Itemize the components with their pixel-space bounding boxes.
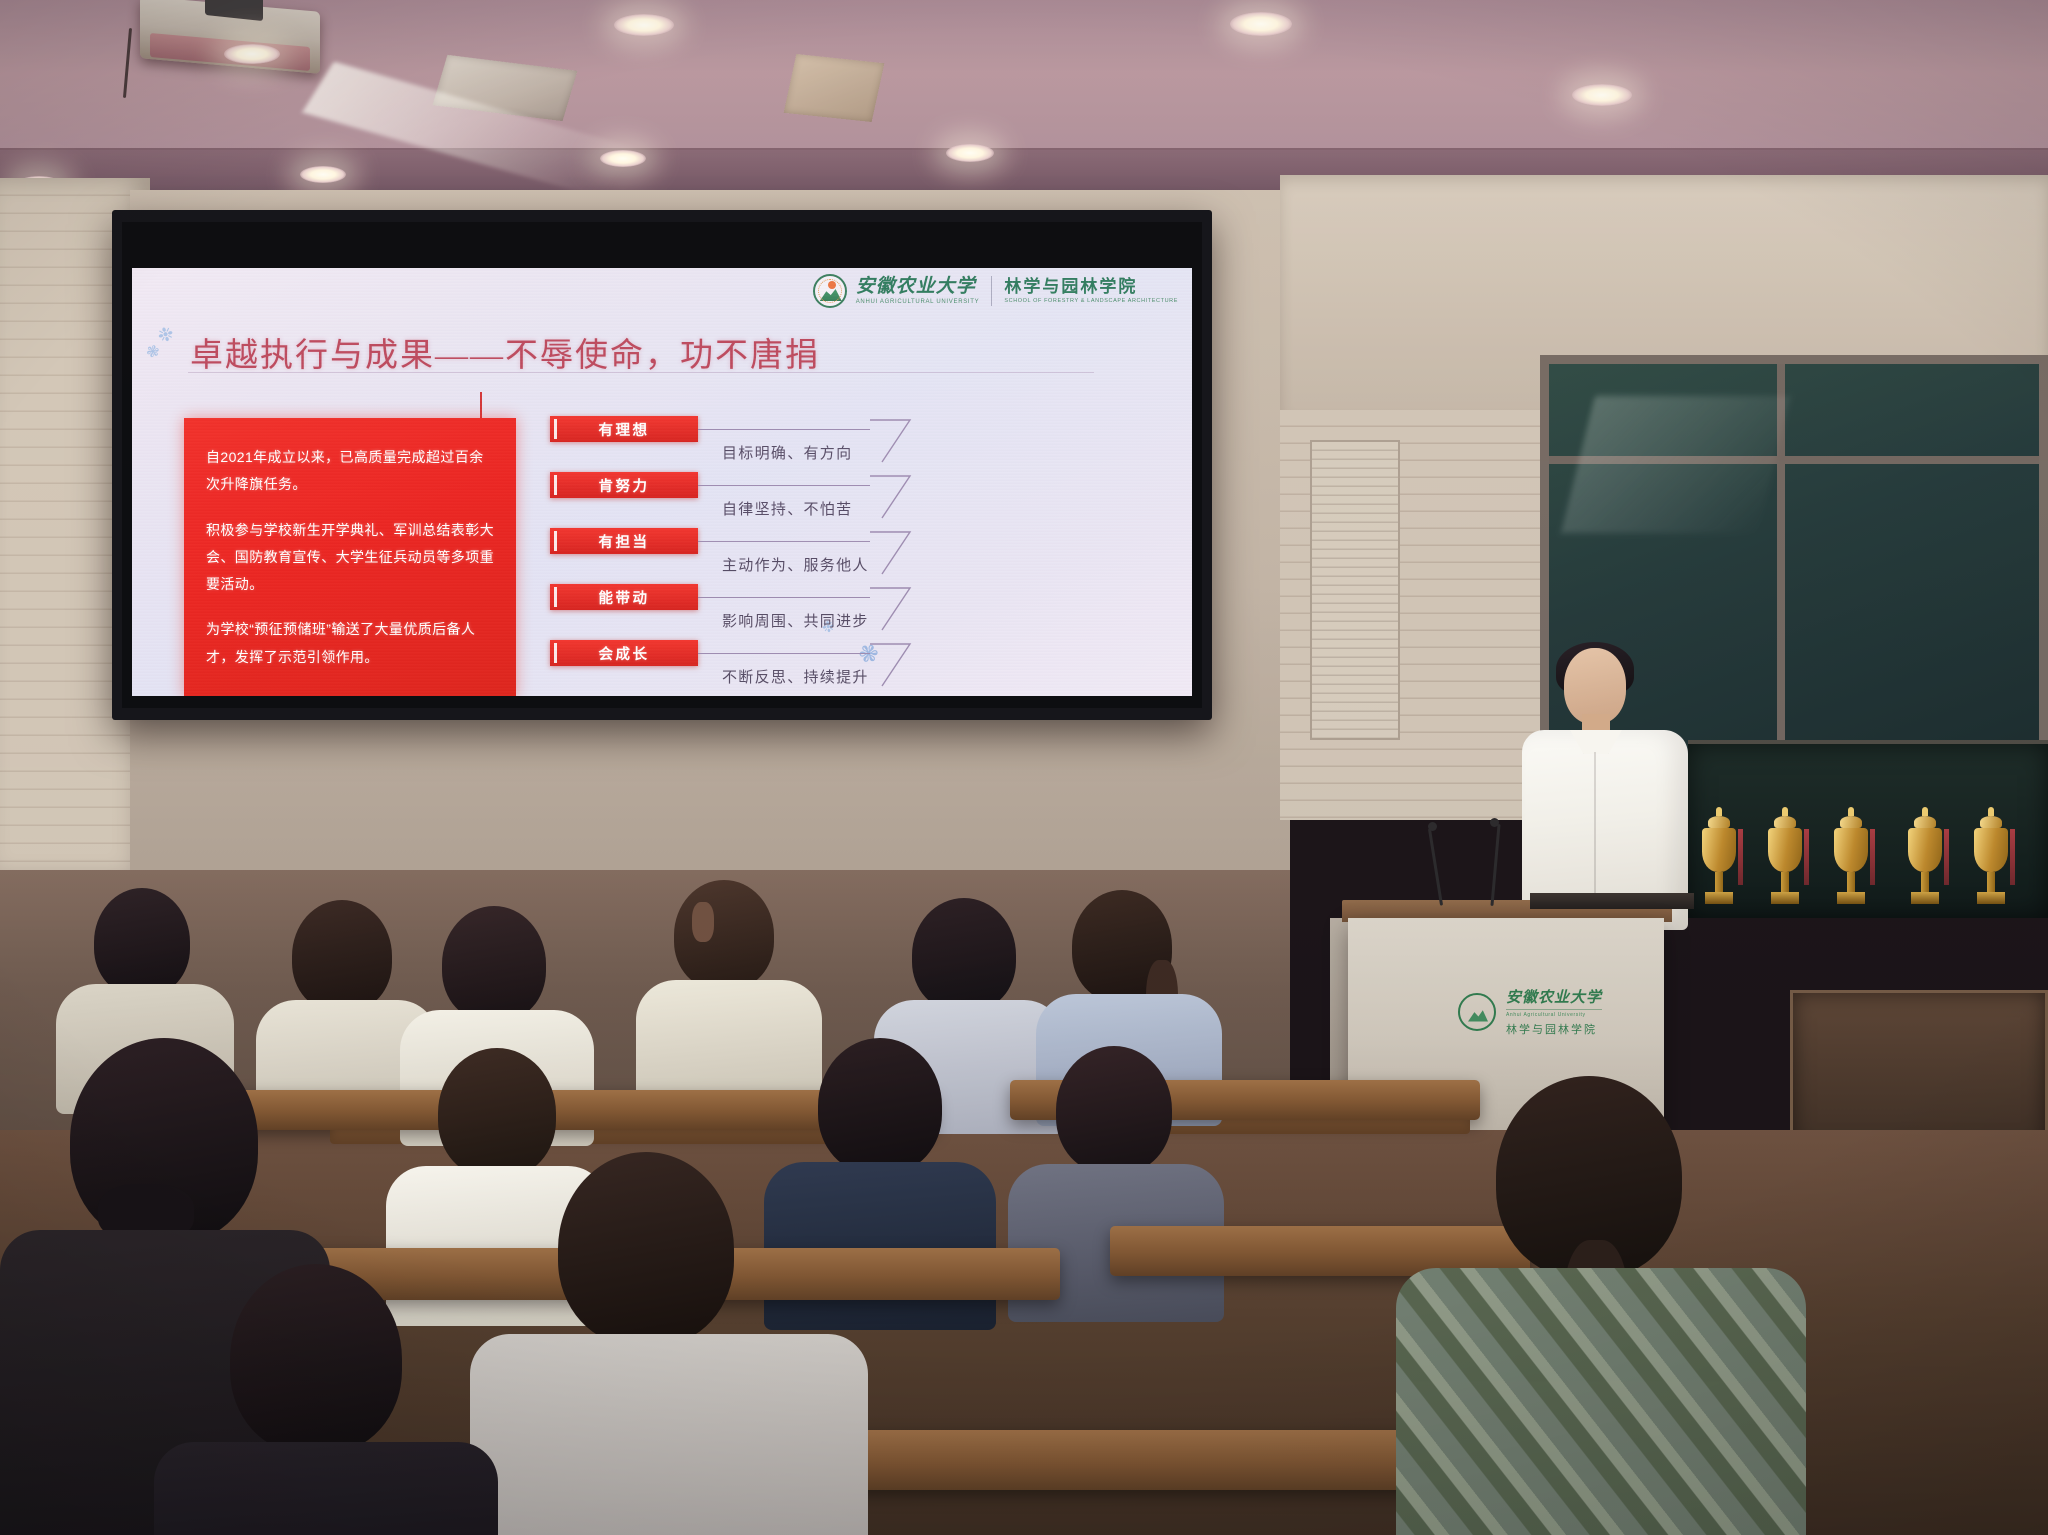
item-chip: 会成长: [550, 640, 698, 666]
audience-head: [442, 906, 546, 1022]
trophy-icon: [1702, 807, 1736, 904]
list-item: 有担当 主动作为、服务他人: [550, 528, 1030, 584]
ceiling-downlight: [614, 14, 674, 36]
item-chip: 肯努力: [550, 472, 698, 498]
podium-school-name-cn: 林学与园林学院: [1506, 1021, 1602, 1037]
logo-divider: [991, 276, 992, 306]
item-connector-line: [698, 597, 870, 598]
ceiling-downlight: [946, 144, 994, 162]
podium-university-name-cn: 安徽农业大学: [1506, 986, 1602, 1007]
podium-desk-surface: [1530, 893, 1694, 909]
item-connector-line: [698, 429, 870, 430]
slide-header-logo: 安徽农业大学 ANHUI AGRICULTURAL UNIVERSITY 林学与…: [813, 274, 1178, 308]
side-cabinet: [1790, 990, 2048, 1150]
audience-head: [292, 900, 392, 1012]
audience-head: [912, 898, 1016, 1012]
item-chip: 有理想: [550, 416, 698, 442]
slide-school-name-cn: 林学与园林学院: [1004, 278, 1178, 295]
wall-vent-panel: [1310, 440, 1400, 740]
microphone-icon: [1428, 828, 1443, 906]
chevron-icon: [868, 642, 912, 688]
chevron-icon: [868, 586, 912, 632]
ceiling-downlight: [1572, 84, 1632, 106]
chevron-icon: [868, 474, 912, 520]
projection-screen: 安徽农业大学 ANHUI AGRICULTURAL UNIVERSITY 林学与…: [112, 210, 1212, 720]
podium-logo: 安徽农业大学 Anhui Agricultural University 林学与…: [1458, 986, 1602, 1037]
lecture-hall-photo: 安徽农业大学 ANHUI AGRICULTURAL UNIVERSITY 林学与…: [0, 0, 2048, 1535]
item-description: 主动作为、服务他人: [722, 554, 869, 575]
audience-head: [94, 888, 190, 996]
item-chip-label: 有担当: [599, 531, 650, 552]
red-panel-paragraph: 积极参与学校新生开学典礼、军训总结表彰大会、国防教育宣传、大学生征兵动员等多项重…: [206, 517, 494, 599]
item-chip: 有担当: [550, 528, 698, 554]
trophy-icon: [1974, 807, 2008, 904]
item-chip-label: 会成长: [599, 643, 650, 664]
microphone-head: [1428, 822, 1437, 831]
item-description: 不断反思、持续提升: [722, 666, 869, 687]
trophy-display-case: [1688, 740, 2048, 918]
audience-torso: [470, 1334, 868, 1535]
audience-head: [438, 1048, 556, 1178]
audience-torso: [154, 1442, 498, 1535]
item-connector-line: [698, 653, 870, 654]
item-chip-label: 肯努力: [599, 475, 650, 496]
ceiling-sign-panel: [784, 54, 885, 122]
chevron-icon: [868, 530, 912, 576]
trophy-icon: [1908, 807, 1942, 904]
bird-icon: ❃: [144, 341, 161, 363]
item-description: 自律坚持、不怕苦: [722, 498, 852, 519]
slide-red-text-panel: 自2021年成立以来，已高质量完成超过百余次升降旗任务。 积极参与学校新生开学典…: [184, 418, 516, 696]
audience-head: [1056, 1046, 1172, 1174]
item-description: 影响周围、共同进步: [722, 610, 869, 631]
ceiling-downlight: [224, 44, 280, 64]
item-chip: 能带动: [550, 584, 698, 610]
slide-university-name-en: ANHUI AGRICULTURAL UNIVERSITY: [856, 299, 980, 305]
audience-head: [818, 1038, 942, 1174]
item-connector-line: [698, 541, 870, 542]
trophy-icon: [1768, 807, 1802, 904]
ceiling-downlight: [600, 150, 646, 167]
item-chip-label: 能带动: [599, 587, 650, 608]
ceiling-seam: [0, 148, 2048, 150]
slide-item-list: 有理想 目标明确、有方向 肯努力 自律坚持、不怕苦 有担当 主动作为、服务他人: [550, 416, 1030, 696]
list-item: 能带动 影响周围、共同进步: [550, 584, 1030, 640]
audience-torso: [1396, 1268, 1806, 1535]
audience-torso: [764, 1162, 996, 1330]
audience-head: [674, 880, 774, 990]
ceiling-downlight: [300, 166, 346, 183]
item-chip-label: 有理想: [599, 419, 650, 440]
item-description: 目标明确、有方向: [722, 442, 852, 463]
window-glare: [1561, 396, 1791, 533]
panel-connector: [480, 392, 482, 420]
university-crest-icon: [1458, 993, 1496, 1031]
audience-head: [558, 1152, 734, 1346]
item-connector-line: [698, 485, 870, 486]
microphone-icon: [1490, 824, 1500, 906]
slide-university-name-cn: 安徽农业大学: [856, 277, 980, 296]
title-underline: [188, 372, 1094, 373]
slide-title: 卓越执行与成果——不辱使命，功不唐捐: [190, 328, 820, 376]
audience-head: [230, 1264, 402, 1454]
list-item: 肯努力 自律坚持、不怕苦: [550, 472, 1030, 528]
ceiling-downlight: [1230, 12, 1292, 36]
presentation-slide: 安徽农业大学 ANHUI AGRICULTURAL UNIVERSITY 林学与…: [132, 268, 1192, 696]
trophy-icon: [1834, 807, 1868, 904]
presenter-placket: [1594, 752, 1596, 902]
university-crest-icon: [813, 274, 847, 308]
red-panel-paragraph: 为学校“预征预储班”输送了大量优质后备人才，发挥了示范引领作用。: [206, 616, 494, 671]
list-item: 会成长 不断反思、持续提升: [550, 640, 1030, 696]
red-panel-paragraph: 自2021年成立以来，已高质量完成超过百余次升降旗任务。: [206, 444, 494, 499]
presenter: [1508, 648, 1698, 928]
chevron-icon: [868, 418, 912, 464]
presenter-head: [1564, 648, 1626, 724]
slide-school-name-en: SCHOOL OF FORESTRY & LANDSCAPE ARCHITECT…: [1004, 298, 1178, 304]
audience-hair-clip: [692, 902, 714, 942]
microphone-head: [1490, 818, 1499, 827]
list-item: 有理想 目标明确、有方向: [550, 416, 1030, 472]
podium-university-name-en: Anhui Agricultural University: [1506, 1009, 1602, 1018]
